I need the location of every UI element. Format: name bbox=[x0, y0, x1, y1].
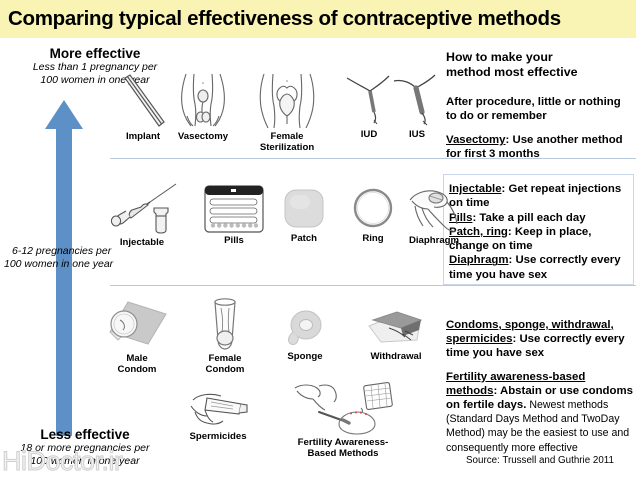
note-paragraph: Fertility awareness-based methods: Absta… bbox=[446, 370, 635, 455]
note-paragraph: Condoms, sponge, withdrawal, spermicides… bbox=[446, 318, 635, 361]
implant-rod-icon bbox=[108, 72, 178, 130]
method-cell-patch: Patch bbox=[272, 184, 336, 245]
note-paragraph: Diaphragm: Use correctly every time you … bbox=[449, 253, 631, 282]
method-cell-diaphragm: Diaphragm bbox=[400, 184, 468, 247]
note-term: Diaphragm bbox=[449, 254, 509, 266]
diaphragm-hand-icon bbox=[400, 184, 468, 234]
vaginal-ring-icon bbox=[344, 184, 402, 232]
how-to-heading-line2: method most effective bbox=[446, 65, 632, 80]
ius-device-icon bbox=[388, 72, 446, 128]
axis-label-less-effective: Less effective 18 or more pregnancies pe… bbox=[6, 427, 164, 467]
how-to-heading-line1: How to make your bbox=[446, 50, 632, 65]
method-caption: Female Condom bbox=[190, 354, 260, 375]
method-caption: Female Sterilization bbox=[248, 132, 326, 153]
method-caption: Implant bbox=[108, 132, 178, 143]
method-caption: Vasectomy bbox=[170, 132, 236, 143]
note-paragraph: Vasectomy: Use another method for first … bbox=[446, 133, 634, 161]
method-caption: Spermicides bbox=[176, 432, 260, 443]
note-paragraph: Injectable: Get repeat injections on tim… bbox=[449, 182, 631, 211]
method-cell-pills: Pills bbox=[198, 184, 270, 247]
method-cell-vasectomy: Vasectomy bbox=[170, 72, 236, 143]
tier-divider-bottom bbox=[110, 285, 636, 286]
method-caption: Male Condom bbox=[98, 354, 176, 375]
page-title: Comparing typical effectiveness of contr… bbox=[0, 7, 561, 31]
pill-pack-icon bbox=[198, 184, 270, 234]
method-caption: Pills bbox=[198, 236, 270, 247]
page-title-band: Comparing typical effectiveness of contr… bbox=[0, 0, 636, 38]
tier3-notes: Condoms, sponge, withdrawal, spermicides… bbox=[446, 318, 635, 464]
less-effective-sub-line1: 18 or more pregnancies per bbox=[6, 442, 164, 455]
method-cell-withdrawal: Withdrawal bbox=[356, 306, 436, 363]
spermicide-tube-icon bbox=[176, 390, 260, 430]
method-cell-female-sterilization: Female Sterilization bbox=[248, 72, 326, 153]
method-caption: Fertility Awareness- Based Methods bbox=[284, 438, 402, 459]
method-cell-implant: Implant bbox=[108, 72, 178, 143]
middle-effective-sub-line2: 100 women in one year bbox=[4, 258, 170, 271]
arrow-shaft bbox=[56, 128, 72, 436]
sponge-icon bbox=[272, 304, 338, 350]
note-paragraph: Patch, ring: Keep in place, change on ti… bbox=[449, 225, 631, 254]
method-cell-sponge: Sponge bbox=[272, 304, 338, 363]
syringe-vial-icon bbox=[100, 182, 184, 236]
method-cell-spermicides: Spermicides bbox=[176, 390, 260, 443]
uterus-anatomy-icon bbox=[248, 72, 326, 130]
method-caption: Withdrawal bbox=[356, 352, 436, 363]
method-caption: IUS bbox=[388, 130, 446, 141]
tier2-notes-box: Injectable: Get repeat injections on tim… bbox=[443, 174, 634, 285]
male-condom-icon bbox=[98, 300, 176, 352]
method-cell-female-condom: Female Condom bbox=[190, 298, 260, 375]
axis-label-middle-effective: 6-12 pregnancies per 100 women in one ye… bbox=[4, 245, 170, 270]
withdrawal-icon bbox=[356, 306, 436, 350]
method-cell-injectable: Injectable bbox=[100, 182, 184, 249]
patch-square-icon bbox=[272, 184, 336, 232]
note-body: After procedure, little or nothing to do… bbox=[446, 96, 621, 122]
arrow-head bbox=[45, 100, 83, 129]
less-effective-sub-line2: 100 women in one year bbox=[6, 455, 164, 468]
method-caption: Patch bbox=[272, 234, 336, 245]
method-caption: Sponge bbox=[272, 352, 338, 363]
vasectomy-anatomy-icon bbox=[170, 72, 236, 130]
note-paragraph: After procedure, little or nothing to do… bbox=[446, 95, 634, 123]
method-caption: Ring bbox=[344, 234, 402, 245]
tier2-notes: Injectable: Get repeat injections on tim… bbox=[449, 182, 631, 282]
note-body: : Take a pill each day bbox=[472, 212, 585, 224]
tier1-notes: After procedure, little or nothing to do… bbox=[446, 95, 634, 161]
method-cell-ring: Ring bbox=[344, 184, 402, 245]
how-to-heading: How to make your method most effective bbox=[446, 50, 632, 80]
fertility-awareness-icon bbox=[284, 382, 402, 436]
note-paragraph: Pills: Take a pill each day bbox=[449, 211, 631, 225]
method-cell-male-condom: Male Condom bbox=[98, 300, 176, 375]
more-effective-heading: More effective bbox=[16, 46, 174, 61]
method-caption: Diaphragm bbox=[400, 236, 468, 247]
method-cell-ius: IUS bbox=[388, 72, 446, 141]
method-cell-fertility-awareness-based-methods: Fertility Awareness- Based Methods bbox=[284, 382, 402, 459]
note-term: Vasectomy bbox=[446, 134, 506, 146]
female-condom-icon bbox=[190, 298, 260, 352]
method-caption: Injectable bbox=[100, 238, 184, 249]
source-citation: Source: Trussell and Guthrie 2011 bbox=[446, 455, 634, 466]
less-effective-heading: Less effective bbox=[6, 427, 164, 442]
